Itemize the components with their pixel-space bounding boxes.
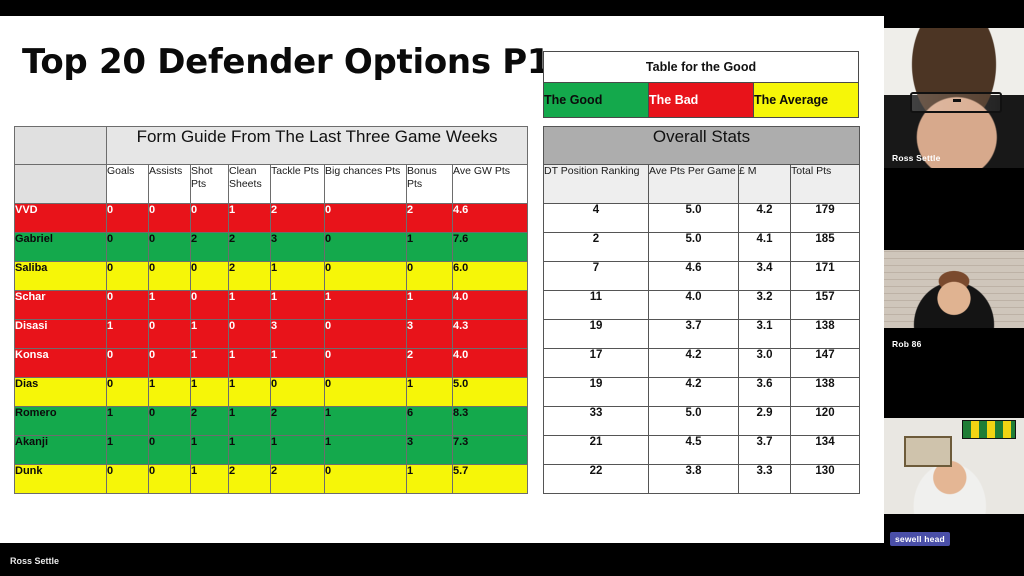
table-row: 25.04.1185 [544, 233, 860, 262]
stat-cell: 0 [149, 349, 191, 378]
stat-cell: 1 [107, 407, 149, 436]
stat-cell: 2 [229, 262, 271, 291]
player-name: Gabriel [15, 233, 107, 262]
stat-cell: 0 [149, 407, 191, 436]
stat-cell: 0 [107, 233, 149, 262]
stat-cell: 0 [325, 465, 407, 494]
stat-cell: 1 [229, 407, 271, 436]
table-row: VVD00012024.6 [15, 204, 528, 233]
player-name: Schar [15, 291, 107, 320]
table-row: 174.23.0147 [544, 349, 860, 378]
stat-cell: 0 [149, 436, 191, 465]
table-row: 114.03.2157 [544, 291, 860, 320]
stat-cell: 1 [407, 378, 453, 407]
stat-cell: 0 [191, 204, 229, 233]
stat-cell: 1 [229, 349, 271, 378]
form-guide-banner-row: Form Guide From The Last Three Game Week… [15, 127, 528, 165]
column-header: Ave GW Pts [453, 165, 528, 204]
stat-cell: 0 [271, 378, 325, 407]
stat-cell: 4.2 [649, 349, 739, 378]
stat-cell: 120 [791, 407, 860, 436]
legend-title: Table for the Good [544, 52, 859, 83]
column-header: Tackle Pts [271, 165, 325, 204]
stat-cell: 1 [325, 436, 407, 465]
stat-cell: 1 [229, 291, 271, 320]
participant-name: Ross Settle [892, 153, 941, 163]
stat-cell: 1 [191, 349, 229, 378]
stat-cell: 7 [544, 262, 649, 291]
table-row: Disasi10103034.3 [15, 320, 528, 349]
stat-cell: 2 [271, 465, 325, 494]
stat-cell: 138 [791, 378, 860, 407]
stat-cell: 0 [191, 262, 229, 291]
stat-cell: 19 [544, 378, 649, 407]
stat-cell: 0 [149, 262, 191, 291]
bunting-decoration [962, 420, 1016, 439]
table-row: 45.04.2179 [544, 204, 860, 233]
stat-cell: 3.1 [739, 320, 791, 349]
participant-tile-0[interactable]: Ross Settle [884, 0, 1024, 192]
stat-cell: 1 [271, 291, 325, 320]
stat-cell: 1 [325, 291, 407, 320]
stat-cell: 0 [107, 378, 149, 407]
player-name: Saliba [15, 262, 107, 291]
stat-cell: 2 [191, 407, 229, 436]
stat-cell: 4.3 [453, 320, 528, 349]
stat-cell: 7.6 [453, 233, 528, 262]
legend-item: The Average [754, 83, 859, 118]
stat-cell: 3.0 [739, 349, 791, 378]
stat-cell: 6 [407, 407, 453, 436]
stat-cell: 1 [407, 465, 453, 494]
stat-cell: 3.7 [649, 320, 739, 349]
stat-cell: 11 [544, 291, 649, 320]
stat-cell: 2 [229, 233, 271, 262]
stat-cell: 4.0 [453, 349, 528, 378]
form-guide-banner: Form Guide From The Last Three Game Week… [107, 127, 528, 165]
stat-cell: 0 [149, 233, 191, 262]
participant-tile-1[interactable]: Rob 86 [884, 192, 1024, 384]
column-header: £ M [739, 165, 791, 204]
stat-cell: 4.2 [739, 204, 791, 233]
player-name: Romero [15, 407, 107, 436]
stat-cell: 171 [791, 262, 860, 291]
column-header: DT Position Ranking [544, 165, 649, 204]
stat-cell: 134 [791, 436, 860, 465]
stat-cell: 22 [544, 465, 649, 494]
stat-cell: 1 [271, 262, 325, 291]
screen-share-view: Top 20 Defender Options P1 Form Guide Fr… [0, 0, 1024, 576]
stat-cell: 0 [107, 465, 149, 494]
stat-cell: 2 [407, 204, 453, 233]
stat-cell: 1 [271, 349, 325, 378]
stat-cell: 2 [544, 233, 649, 262]
table-row: Gabriel00223017.6 [15, 233, 528, 262]
stat-cell: 33 [544, 407, 649, 436]
stat-cell: 1 [229, 436, 271, 465]
corner-cell [15, 127, 107, 165]
stat-cell: 1 [149, 378, 191, 407]
table-row: 193.73.1138 [544, 320, 860, 349]
stat-cell: 3.8 [649, 465, 739, 494]
stat-cell: 0 [325, 204, 407, 233]
stat-cell: 147 [791, 349, 860, 378]
stat-cell: 4.6 [453, 204, 528, 233]
stat-cell: 0 [191, 291, 229, 320]
page-title: Top 20 Defender Options P1 [22, 42, 550, 82]
form-guide-table: Form Guide From The Last Three Game Week… [14, 126, 528, 494]
stat-cell: 2 [271, 407, 325, 436]
legend-title-row: Table for the Good [544, 52, 859, 83]
stat-cell: 2.9 [739, 407, 791, 436]
legend-item: The Good [544, 83, 649, 118]
column-header: Goals [107, 165, 149, 204]
stat-cell: 157 [791, 291, 860, 320]
presentation-slide: Top 20 Defender Options P1 Form Guide Fr… [0, 16, 884, 543]
stat-cell: 2 [271, 204, 325, 233]
table-row: 74.63.4171 [544, 262, 860, 291]
stat-cell: 1 [191, 320, 229, 349]
table-row: 335.02.9120 [544, 407, 860, 436]
stat-cell: 4.1 [739, 233, 791, 262]
table-row: Schar01011114.0 [15, 291, 528, 320]
table-row: Dias01110015.0 [15, 378, 528, 407]
stat-cell: 5.0 [453, 378, 528, 407]
stat-cell: 179 [791, 204, 860, 233]
overall-stats-table: Overall StatsDT Position RankingAve Pts … [543, 126, 860, 494]
stat-cell: 3.4 [739, 262, 791, 291]
overall-stats-banner: Overall Stats [544, 127, 860, 165]
stat-cell: 130 [791, 465, 860, 494]
stat-cell: 5.0 [649, 204, 739, 233]
stat-cell: 0 [325, 262, 407, 291]
stat-cell: 1 [107, 436, 149, 465]
overall-stats-banner-row: Overall Stats [544, 127, 860, 165]
stat-cell: 1 [407, 233, 453, 262]
stat-cell: 2 [229, 465, 271, 494]
participant-tile-2[interactable]: sewell head [884, 384, 1024, 576]
stat-cell: 4.5 [649, 436, 739, 465]
column-header: Bonus Pts [407, 165, 453, 204]
presenter-name-label: Ross Settle [10, 556, 59, 566]
table-row: Romero10212168.3 [15, 407, 528, 436]
stat-cell: 1 [191, 378, 229, 407]
stat-cell: 138 [791, 320, 860, 349]
column-header: Assists [149, 165, 191, 204]
stat-cell: 1 [271, 436, 325, 465]
stat-cell: 19 [544, 320, 649, 349]
column-header: Big chances Pts [325, 165, 407, 204]
stat-cell: 1 [149, 291, 191, 320]
stat-cell: 4.0 [649, 291, 739, 320]
stat-cell: 0 [107, 262, 149, 291]
stat-cell: 1 [191, 465, 229, 494]
row-label-header [15, 165, 107, 204]
stat-cell: 6.0 [453, 262, 528, 291]
table-row: Akanji10111137.3 [15, 436, 528, 465]
stat-cell: 2 [191, 233, 229, 262]
stat-cell: 1 [229, 204, 271, 233]
player-name: Dunk [15, 465, 107, 494]
stat-cell: 2 [407, 349, 453, 378]
legend-items-row: The GoodThe BadThe Average [544, 83, 859, 118]
stat-cell: 0 [229, 320, 271, 349]
stat-cell: 0 [107, 349, 149, 378]
column-header: Shot Pts [191, 165, 229, 204]
legend-item: The Bad [649, 83, 754, 118]
participant-name: Rob 86 [892, 339, 922, 349]
player-name: Dias [15, 378, 107, 407]
video-feed [884, 418, 1024, 514]
stat-cell: 3 [407, 320, 453, 349]
table-row: 194.23.6138 [544, 378, 860, 407]
stat-cell: 4 [544, 204, 649, 233]
stat-cell: 0 [325, 320, 407, 349]
player-name: Akanji [15, 436, 107, 465]
stat-cell: 3.2 [739, 291, 791, 320]
stat-cell: 1 [325, 407, 407, 436]
participant-name-active: sewell head [890, 532, 950, 546]
stat-cell: 0 [407, 262, 453, 291]
stat-cell: 4.6 [649, 262, 739, 291]
stat-cell: 3.6 [739, 378, 791, 407]
stat-cell: 21 [544, 436, 649, 465]
table-row: Saliba00021006.0 [15, 262, 528, 291]
column-header: Ave Pts Per Game [649, 165, 739, 204]
stat-cell: 1 [407, 291, 453, 320]
stat-cell: 3.7 [739, 436, 791, 465]
player-name: Disasi [15, 320, 107, 349]
stat-cell: 5.0 [649, 407, 739, 436]
stat-cell: 3 [271, 320, 325, 349]
stat-cell: 0 [149, 465, 191, 494]
stat-cell: 1 [229, 378, 271, 407]
table-row: 223.83.3130 [544, 465, 860, 494]
video-feed [884, 250, 1024, 328]
stat-cell: 1 [191, 436, 229, 465]
stat-cell: 5.7 [453, 465, 528, 494]
stat-cell: 0 [325, 378, 407, 407]
stat-cell: 0 [149, 204, 191, 233]
stat-cell: 4.2 [649, 378, 739, 407]
stat-cell: 3.3 [739, 465, 791, 494]
column-header: Clean Sheets [229, 165, 271, 204]
legend-table: Table for the Good The GoodThe BadThe Av… [543, 51, 859, 118]
stat-cell: 0 [107, 204, 149, 233]
stat-cell: 4.0 [453, 291, 528, 320]
stat-cell: 0 [107, 291, 149, 320]
table-row: 214.53.7134 [544, 436, 860, 465]
glasses-icon [910, 92, 1002, 113]
stat-cell: 7.3 [453, 436, 528, 465]
column-header: Total Pts [791, 165, 860, 204]
wall-picture [904, 436, 952, 467]
table-row: Dunk00122015.7 [15, 465, 528, 494]
stat-cell: 3 [407, 436, 453, 465]
stat-cell: 1 [107, 320, 149, 349]
stat-cell: 5.0 [649, 233, 739, 262]
form-guide-header-row: GoalsAssistsShot PtsClean SheetsTackle P… [15, 165, 528, 204]
stat-cell: 3 [271, 233, 325, 262]
table-row: Konsa00111024.0 [15, 349, 528, 378]
stat-cell: 0 [325, 233, 407, 262]
stat-cell: 0 [149, 320, 191, 349]
participant-strip: Ross Settle Rob 86 sewell head [884, 0, 1024, 576]
player-name: Konsa [15, 349, 107, 378]
stat-cell: 0 [325, 349, 407, 378]
stat-cell: 185 [791, 233, 860, 262]
stat-cell: 8.3 [453, 407, 528, 436]
overall-stats-header-row: DT Position RankingAve Pts Per Game£ MTo… [544, 165, 860, 204]
player-name: VVD [15, 204, 107, 233]
stat-cell: 17 [544, 349, 649, 378]
